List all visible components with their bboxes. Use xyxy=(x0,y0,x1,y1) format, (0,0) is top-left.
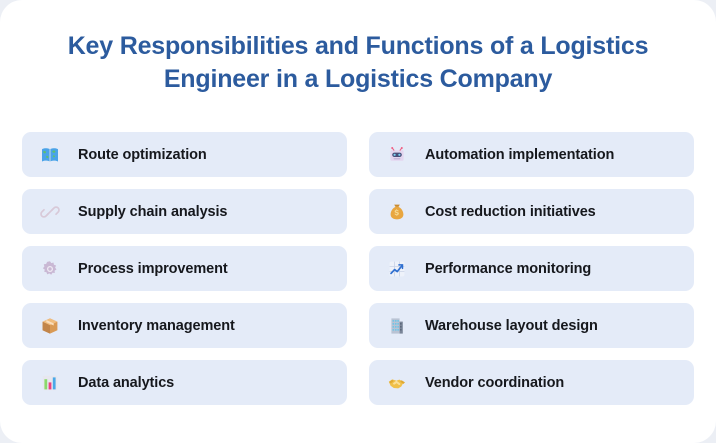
list-item-label: Data analytics xyxy=(78,375,174,391)
list-item[interactable]: Automation implementation xyxy=(369,132,694,177)
list-item[interactable]: Route optimization xyxy=(22,132,347,177)
money-bag-icon xyxy=(385,200,409,224)
list-item-label: Automation implementation xyxy=(425,147,614,163)
page-title-line-2: Engineer in a Logistics Company xyxy=(164,65,552,93)
world-map-icon xyxy=(38,143,62,167)
responsibilities-grid: Route optimization Automation implementa… xyxy=(22,132,694,405)
list-item-label: Cost reduction initiatives xyxy=(425,204,596,220)
list-item[interactable]: Warehouse layout design xyxy=(369,303,694,348)
handshake-icon xyxy=(385,371,409,395)
page-title-line-1: Key Responsibilities and Functions of a … xyxy=(68,32,649,60)
list-item[interactable]: Inventory management xyxy=(22,303,347,348)
package-box-icon xyxy=(38,314,62,338)
list-item-label: Process improvement xyxy=(78,261,228,277)
gear-icon xyxy=(38,257,62,281)
list-item-label: Warehouse layout design xyxy=(425,318,598,334)
list-item-label: Supply chain analysis xyxy=(78,204,227,220)
list-item[interactable]: Vendor coordination xyxy=(369,360,694,405)
link-chain-icon xyxy=(38,200,62,224)
bar-chart-icon xyxy=(38,371,62,395)
list-item-label: Inventory management xyxy=(78,318,235,334)
list-item[interactable]: Performance monitoring xyxy=(369,246,694,291)
list-item-label: Performance monitoring xyxy=(425,261,591,277)
chart-increasing-icon xyxy=(385,257,409,281)
list-item-label: Route optimization xyxy=(78,147,207,163)
list-item[interactable]: Process improvement xyxy=(22,246,347,291)
list-item[interactable]: Data analytics xyxy=(22,360,347,405)
list-item[interactable]: Supply chain analysis xyxy=(22,189,347,234)
list-item[interactable]: Cost reduction initiatives xyxy=(369,189,694,234)
infographic-card: Key Responsibilities and Functions of a … xyxy=(0,0,716,443)
page-title: Key Responsibilities and Functions of a … xyxy=(0,0,716,97)
robot-icon xyxy=(385,143,409,167)
list-item-label: Vendor coordination xyxy=(425,375,564,391)
office-building-icon xyxy=(385,314,409,338)
